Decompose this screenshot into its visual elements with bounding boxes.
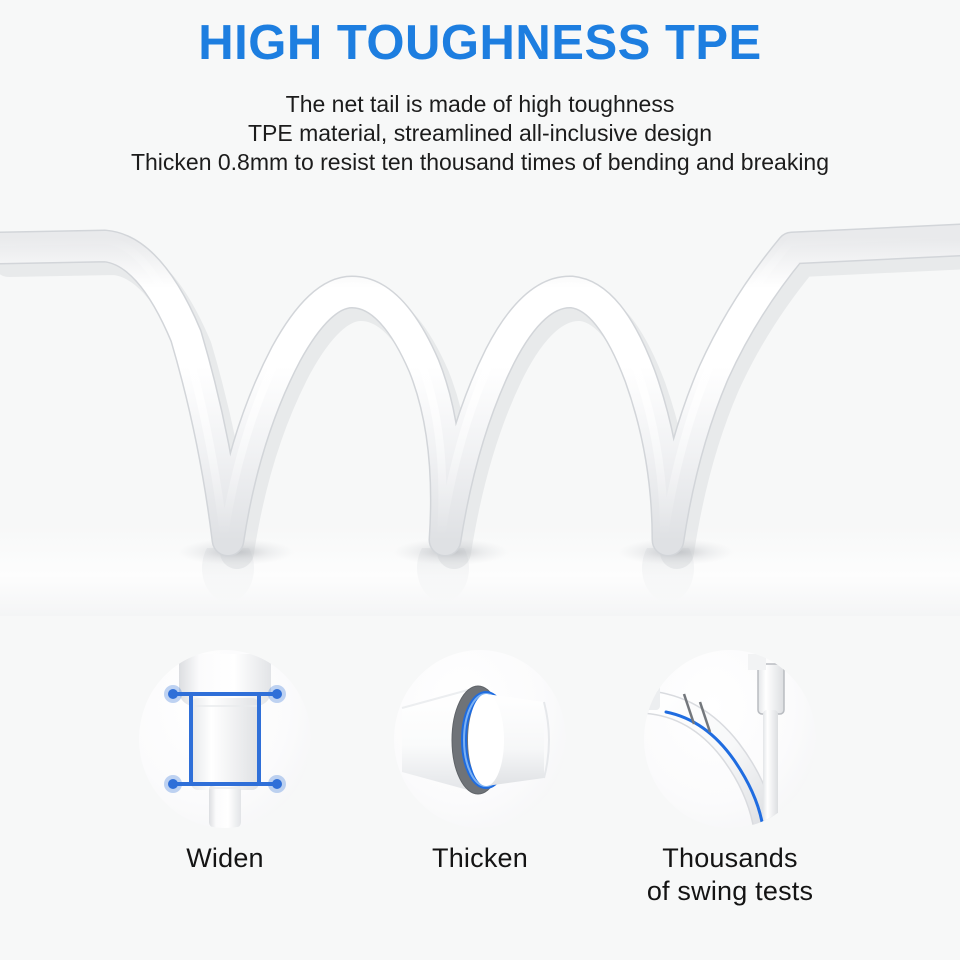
page-title: HIGH TOUGHNESS TPE (0, 18, 960, 69)
feature-item-swing-tests[interactable]: Thousands of swing tests (615, 650, 845, 908)
product-feature-page: HIGH TOUGHNESS TPE The net tail is made … (0, 0, 960, 960)
feature-thumbnail-thicken (394, 650, 566, 828)
subtitle-line-1: The net tail is made of high toughness (0, 90, 960, 119)
feature-label-line-1: Widen (186, 843, 264, 873)
feature-label-thicken: Thicken (365, 842, 595, 875)
feature-thumbnail-widen (139, 650, 311, 828)
feature-row: Widen (0, 650, 960, 940)
feature-label-line-1: Thicken (432, 843, 528, 873)
feature-item-widen[interactable]: Widen (110, 650, 340, 875)
subtitle-line-3: Thicken 0.8mm to resist ten thousand tim… (0, 148, 960, 177)
subtitle-block: The net tail is made of high toughness T… (0, 90, 960, 177)
subtitle-line-2: TPE material, streamlined all-inclusive … (0, 119, 960, 148)
hero-cable-photo (0, 196, 960, 616)
feature-item-thicken[interactable]: Thicken (365, 650, 595, 875)
feature-label-line-1: Thousands (662, 843, 797, 873)
feature-label-swing-tests: Thousands of swing tests (615, 842, 845, 908)
feature-label-line-2: of swing tests (615, 875, 845, 908)
feature-thumbnail-swing-tests (644, 650, 816, 828)
feature-label-widen: Widen (110, 842, 340, 875)
